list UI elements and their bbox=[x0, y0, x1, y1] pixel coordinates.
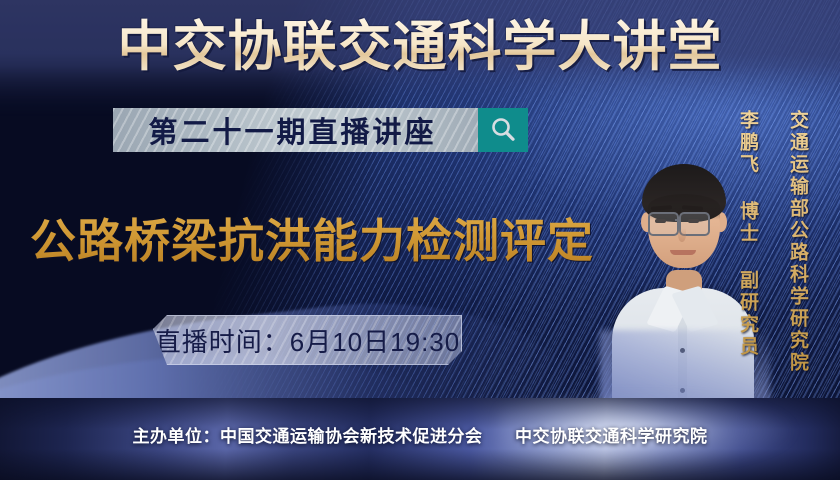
portrait-glasses-bridge bbox=[675, 219, 681, 221]
search-icon[interactable] bbox=[478, 108, 528, 152]
live-time-text: 直播时间：6月10日19:30 bbox=[155, 322, 460, 359]
live-time-badge: 直播时间：6月10日19:30 bbox=[153, 315, 462, 365]
episode-banner: 第二十一期直播讲座 bbox=[113, 108, 528, 152]
episode-banner-label: 第二十一期直播讲座 bbox=[148, 109, 442, 151]
portrait-nose bbox=[678, 228, 686, 242]
episode-banner-bar: 第二十一期直播讲座 bbox=[113, 108, 478, 152]
speaker-organization-vertical: 交通运输部公路科学研究院 bbox=[785, 110, 812, 374]
speaker-name-vertical: 李鹏飞 博士 副研究员 bbox=[735, 110, 762, 358]
footer-organizer-primary: 主办单位：中国交通运输协会新技术促进分会 bbox=[133, 422, 483, 447]
lecture-topic: 公路桥梁抗洪能力检测评定 bbox=[30, 205, 594, 271]
live-lecture-poster: 中交协联交通科学大讲堂 第二十一期直播讲座 公路桥梁抗洪能力检测评定 直播时间：… bbox=[0, 0, 840, 480]
page-title: 中交协联交通科学大讲堂 bbox=[0, 18, 840, 76]
footer-organizers: 主办单位：中国交通运输协会新技术促进分会 中交协联交通科学研究院 bbox=[0, 422, 840, 447]
portrait-glasses-left-lens bbox=[648, 212, 679, 236]
footer-organizer-secondary: 中交协联交通科学研究院 bbox=[515, 422, 708, 447]
portrait-mouth bbox=[670, 250, 696, 255]
